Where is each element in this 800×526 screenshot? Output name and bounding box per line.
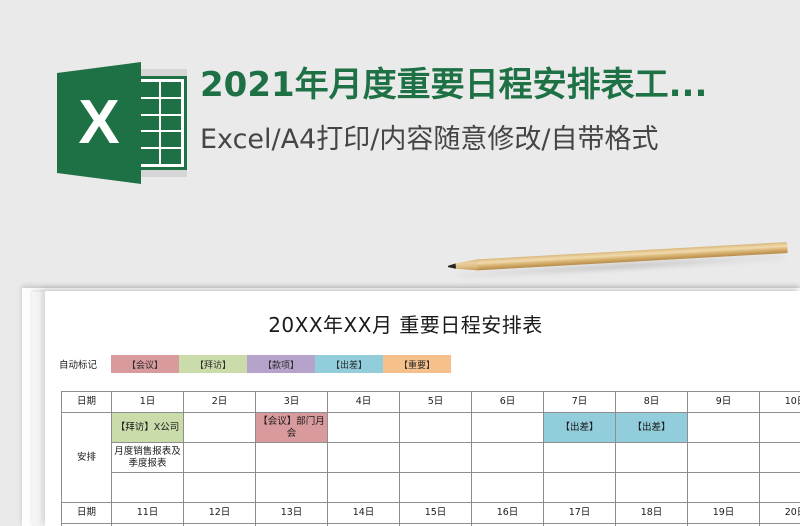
date-cell[interactable]: 11日 (112, 503, 184, 524)
schedule-cell[interactable]: 【会议】部门月会 (256, 413, 328, 443)
schedule-cell[interactable] (184, 473, 256, 503)
legend-chip-payment[interactable]: 【款项】 (247, 355, 315, 373)
date-cell[interactable]: 16日 (472, 503, 544, 524)
schedule-cell[interactable] (760, 413, 800, 443)
schedule-cell[interactable] (688, 473, 760, 503)
legend-label: 自动标记 (45, 357, 111, 371)
schedule-cell[interactable]: 【出差】 (544, 413, 616, 443)
date-cell[interactable]: 17日 (544, 503, 616, 524)
date-cell[interactable]: 3日 (256, 392, 328, 413)
schedule-cell[interactable] (112, 473, 184, 503)
table-row-dates-second: 日期 11日 12日 13日 14日 15日 16日 17日 18日 19日 2… (62, 503, 800, 524)
schedule-cell[interactable] (328, 473, 400, 503)
promo-banner: X 2021年月度重要日程安排表工... Excel/A4打印/内容随意修改/自… (0, 0, 800, 250)
schedule-cell[interactable] (616, 443, 688, 473)
schedule-cell[interactable] (544, 443, 616, 473)
date-cell[interactable]: 12日 (184, 503, 256, 524)
date-cell[interactable]: 13日 (256, 503, 328, 524)
spreadsheet-preview: 20XX年XX月 重要日程安排表 自动标记 【会议】 【拜访】 【款项】 【出差… (45, 291, 800, 526)
date-cell[interactable]: 2日 (184, 392, 256, 413)
schedule-cell[interactable] (184, 443, 256, 473)
date-cell[interactable]: 9日 (688, 392, 760, 413)
date-cell[interactable]: 8日 (616, 392, 688, 413)
schedule-cell[interactable] (472, 413, 544, 443)
schedule-cell[interactable] (688, 413, 760, 443)
sheet-title: 20XX年XX月 重要日程安排表 (45, 291, 800, 338)
schedule-cell[interactable] (184, 413, 256, 443)
schedule-cell[interactable] (544, 473, 616, 503)
table-row-schedule-3 (62, 473, 800, 503)
date-cell[interactable]: 7日 (544, 392, 616, 413)
banner-text-block: 2021年月度重要日程安排表工... Excel/A4打印/内容随意修改/自带格… (200, 64, 800, 157)
schedule-cell[interactable] (328, 413, 400, 443)
table-row-schedule-1: 安排 【拜访】X公司 【会议】部门月会 【出差】 【出差】 (62, 413, 800, 443)
date-cell[interactable]: 5日 (400, 392, 472, 413)
date-cell[interactable]: 15日 (400, 503, 472, 524)
schedule-table: 日期 1日 2日 3日 4日 5日 6日 7日 8日 9日 10日 安排 【拜访… (61, 391, 800, 526)
date-cell[interactable]: 18日 (616, 503, 688, 524)
schedule-cell[interactable] (400, 413, 472, 443)
excel-logo-grid-icon (133, 76, 187, 170)
date-cell[interactable]: 20日 (760, 503, 800, 524)
schedule-cell[interactable]: 【拜访】X公司 (112, 413, 184, 443)
excel-logo: X (57, 62, 187, 184)
legend-chip-trip[interactable]: 【出差】 (315, 355, 383, 373)
schedule-cell[interactable]: 月度销售报表及季度报表 (112, 443, 184, 473)
schedule-cell[interactable] (688, 443, 760, 473)
schedule-cell[interactable] (616, 473, 688, 503)
date-cell[interactable]: 4日 (328, 392, 400, 413)
schedule-cell[interactable] (472, 473, 544, 503)
legend-chip-visit[interactable]: 【拜访】 (179, 355, 247, 373)
legend-chip-important[interactable]: 【重要】 (383, 355, 451, 373)
excel-logo-x-letter: X (57, 62, 141, 184)
pencil-tip-wood (454, 259, 479, 271)
date-cell[interactable]: 6日 (472, 392, 544, 413)
schedule-cell[interactable] (760, 473, 800, 503)
banner-title: 2021年月度重要日程安排表工... (200, 64, 800, 108)
date-cell[interactable]: 1日 (112, 392, 184, 413)
schedule-cell[interactable] (256, 473, 328, 503)
legend-chip-meeting[interactable]: 【会议】 (111, 355, 179, 373)
pencil-lead (448, 263, 456, 269)
schedule-cell[interactable] (328, 443, 400, 473)
legend-row: 自动标记 【会议】 【拜访】 【款项】 【出差】 【重要】 (45, 355, 800, 373)
schedule-cell[interactable] (472, 443, 544, 473)
schedule-cell[interactable] (256, 443, 328, 473)
table-row-schedule-2: 月度销售报表及季度报表 (62, 443, 800, 473)
row-header-date-1: 日期 (62, 392, 112, 413)
schedule-cell[interactable] (760, 443, 800, 473)
schedule-cell[interactable] (400, 443, 472, 473)
banner-subtitle: Excel/A4打印/内容随意修改/自带格式 (200, 122, 800, 157)
date-cell[interactable]: 10日 (760, 392, 800, 413)
schedule-cell[interactable]: 【出差】 (616, 413, 688, 443)
row-header-schedule: 安排 (62, 413, 112, 503)
date-cell[interactable]: 19日 (688, 503, 760, 524)
row-header-date-2: 日期 (62, 503, 112, 524)
date-cell[interactable]: 14日 (328, 503, 400, 524)
table-row-dates-first: 日期 1日 2日 3日 4日 5日 6日 7日 8日 9日 10日 (62, 392, 800, 413)
schedule-cell[interactable] (400, 473, 472, 503)
